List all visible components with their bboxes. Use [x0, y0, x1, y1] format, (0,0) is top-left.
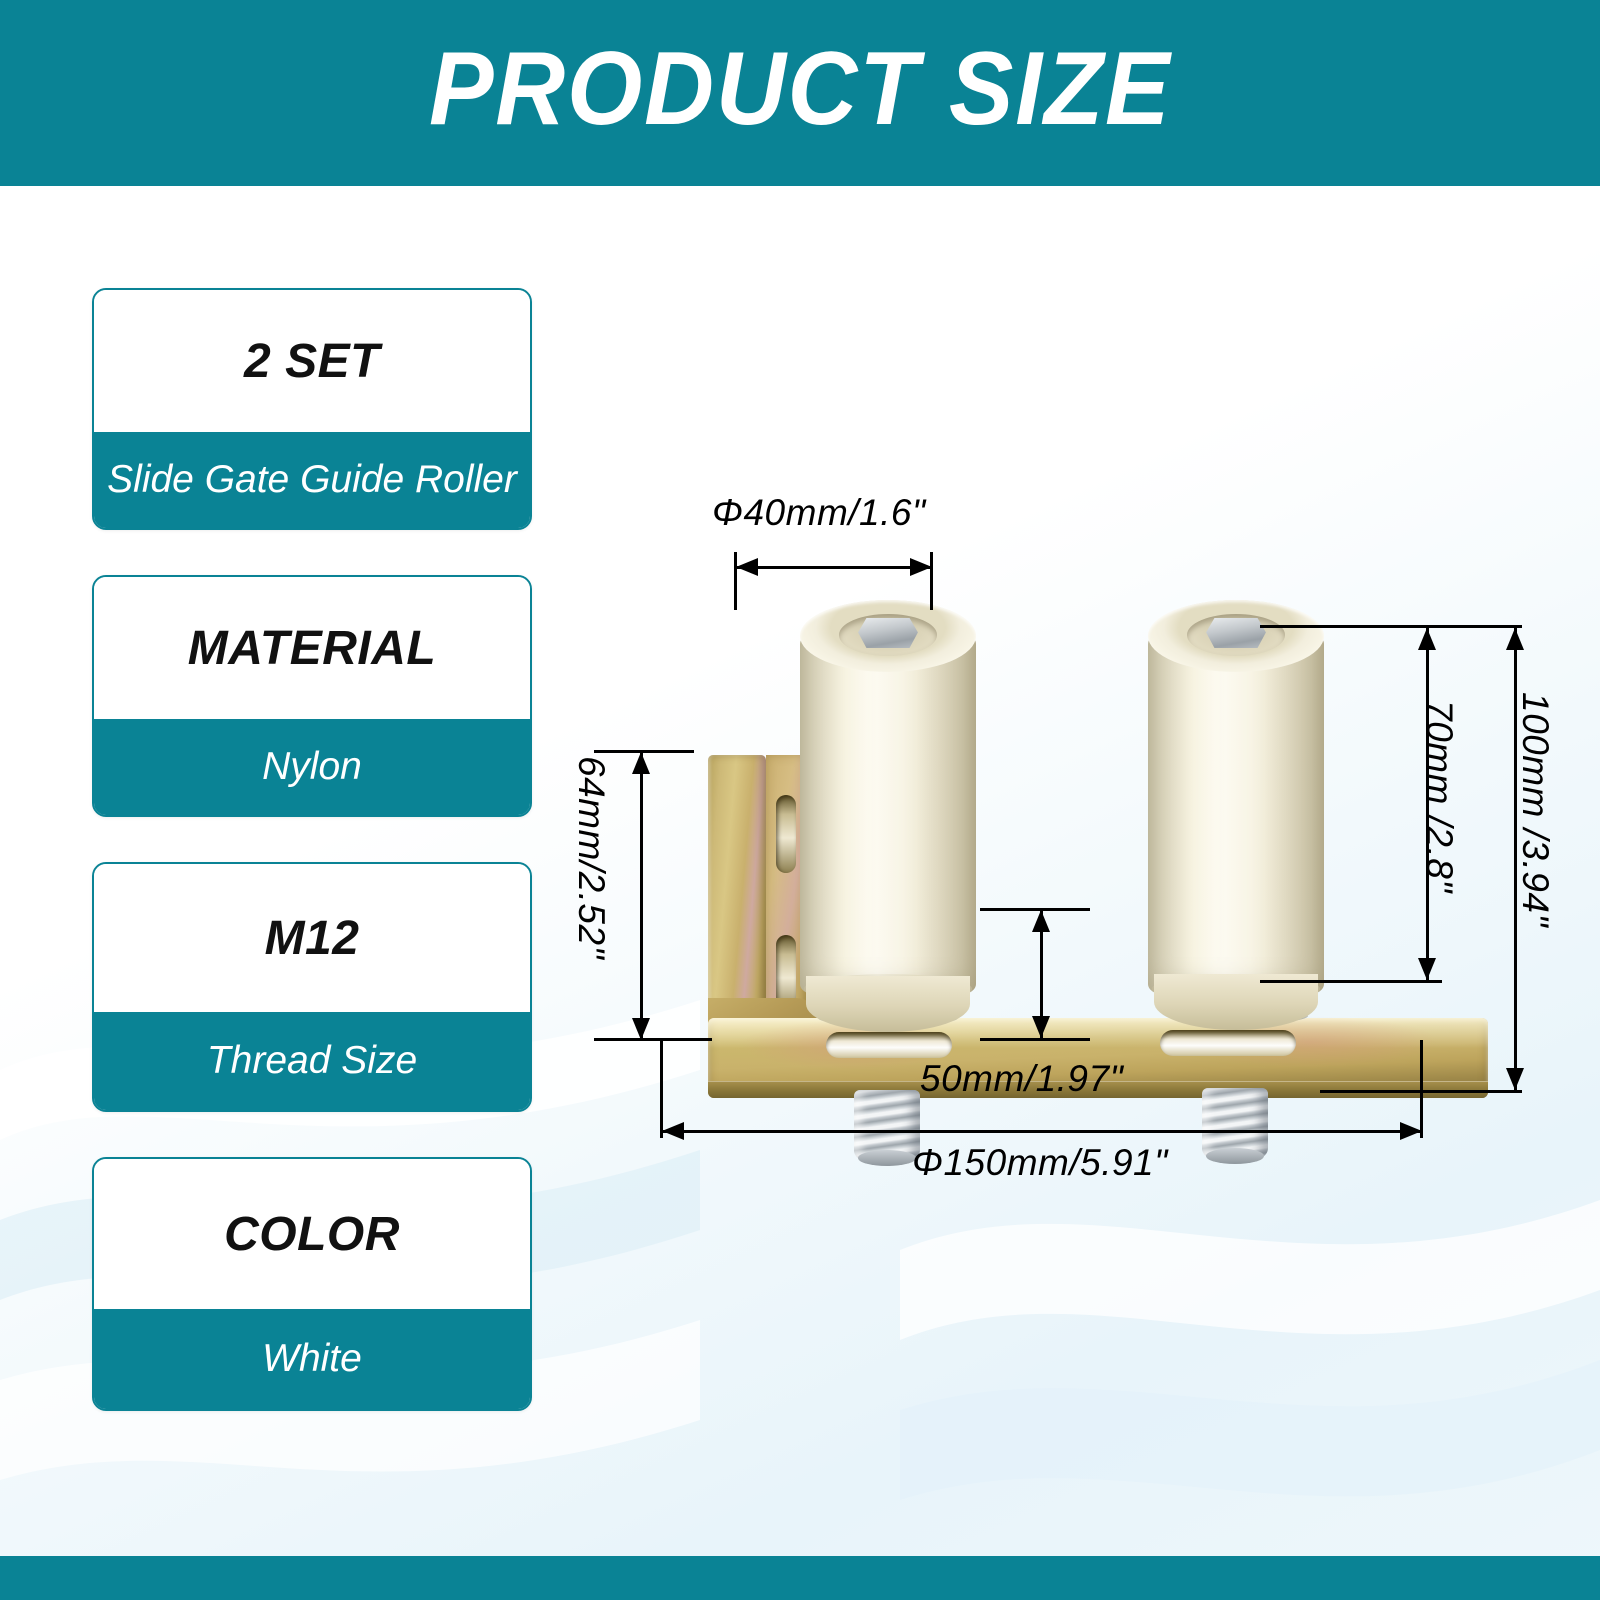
extension-line — [980, 1038, 1090, 1041]
hex-bolt-head-icon — [858, 618, 918, 648]
roller-base-cap-left — [806, 976, 970, 1032]
hex-bolt-head-icon — [1206, 618, 1266, 648]
dimension-arrow-left — [736, 558, 758, 576]
spec-card-title-area: M12 — [94, 864, 530, 1012]
spec-card-subtitle: Nylon — [262, 745, 362, 789]
dimension-line-flange-height — [640, 752, 643, 1040]
spec-card-list: 2 SET Slide Gate Guide Roller MATERIAL N… — [92, 288, 532, 1456]
spec-card-title-area: MATERIAL — [94, 577, 530, 719]
base-plate-slot-left — [826, 1032, 952, 1058]
extension-line — [1260, 625, 1522, 628]
spec-card-subtitle: Thread Size — [207, 1039, 417, 1083]
dimension-arrow-right — [910, 558, 932, 576]
spec-card-subtitle: White — [262, 1337, 362, 1381]
nylon-roller-left — [800, 600, 976, 960]
extension-line — [594, 1038, 712, 1041]
extension-line — [1260, 980, 1442, 983]
product-dimension-figure: Φ40mm/1.6" 64mm/2.52" 70mm /2.8" 100mm /… — [560, 470, 1600, 1210]
spec-card-subtitle-area: Slide Gate Guide Roller — [94, 432, 530, 528]
threaded-stud-left — [854, 1090, 920, 1160]
spec-card-subtitle: Slide Gate Guide Roller — [107, 458, 517, 502]
dimension-arrow-up — [1506, 628, 1524, 650]
spec-card-subtitle-area: White — [94, 1309, 530, 1409]
nylon-roller-right — [1148, 600, 1324, 960]
dimension-arrow-up — [1418, 628, 1436, 650]
dimension-arrow-left — [662, 1122, 684, 1140]
dimension-arrow-up — [632, 752, 650, 774]
dimension-line-overall-height — [1514, 628, 1517, 1090]
spec-card-subtitle-area: Nylon — [94, 719, 530, 815]
dimension-line-overall-length — [662, 1130, 1422, 1133]
header-banner: PRODUCT SIZE — [0, 0, 1600, 186]
bracket-flange-slot-upper — [776, 795, 796, 873]
dimension-arrow-down — [1032, 1016, 1050, 1038]
dimension-arrow-right — [1400, 1122, 1422, 1140]
roller-body — [800, 634, 976, 994]
dimension-arrow-down — [1418, 958, 1436, 980]
spec-card-quantity: 2 SET Slide Gate Guide Roller — [92, 288, 532, 530]
dimension-label-overall-length: Φ150mm/5.91" — [912, 1142, 1168, 1184]
spec-card-subtitle-area: Thread Size — [94, 1012, 530, 1110]
dimension-arrow-up — [1032, 910, 1050, 932]
dimension-label-roller-diameter: Φ40mm/1.6" — [712, 492, 926, 534]
dimension-label-flange-height: 64mm/2.52" — [570, 756, 612, 959]
dimension-arrow-down — [632, 1018, 650, 1040]
dimension-line-roller-height — [1426, 628, 1429, 980]
spec-card-title: M12 — [265, 911, 360, 966]
dimension-label-roller-height: 70mm /2.8" — [1418, 700, 1460, 893]
spec-card-color: COLOR White — [92, 1157, 532, 1411]
spec-card-title-area: 2 SET — [94, 290, 530, 432]
spec-card-material: MATERIAL Nylon — [92, 575, 532, 817]
dimension-arrow-down — [1506, 1068, 1524, 1090]
threaded-stud-right — [1202, 1088, 1268, 1158]
spec-card-title: COLOR — [224, 1207, 400, 1262]
page-canvas: PRODUCT SIZE 2 SET Slide Gate Guide Roll… — [0, 0, 1600, 1600]
spec-card-thread-size: M12 Thread Size — [92, 862, 532, 1112]
page-title: PRODUCT SIZE — [429, 37, 1171, 149]
footer-bar — [0, 1556, 1600, 1600]
product-photo — [620, 580, 1500, 1100]
spec-card-title: MATERIAL — [188, 621, 436, 676]
spec-card-title-area: COLOR — [94, 1159, 530, 1309]
dimension-line-roller-diameter — [736, 566, 932, 569]
dimension-label-overall-height: 100mm /3.94" — [1514, 692, 1556, 927]
base-plate-slot-right — [1160, 1030, 1296, 1056]
spec-card-title: 2 SET — [244, 334, 380, 389]
dimension-label-plate-thickness: 50mm/1.97" — [920, 1058, 1123, 1100]
roller-body — [1148, 634, 1324, 994]
